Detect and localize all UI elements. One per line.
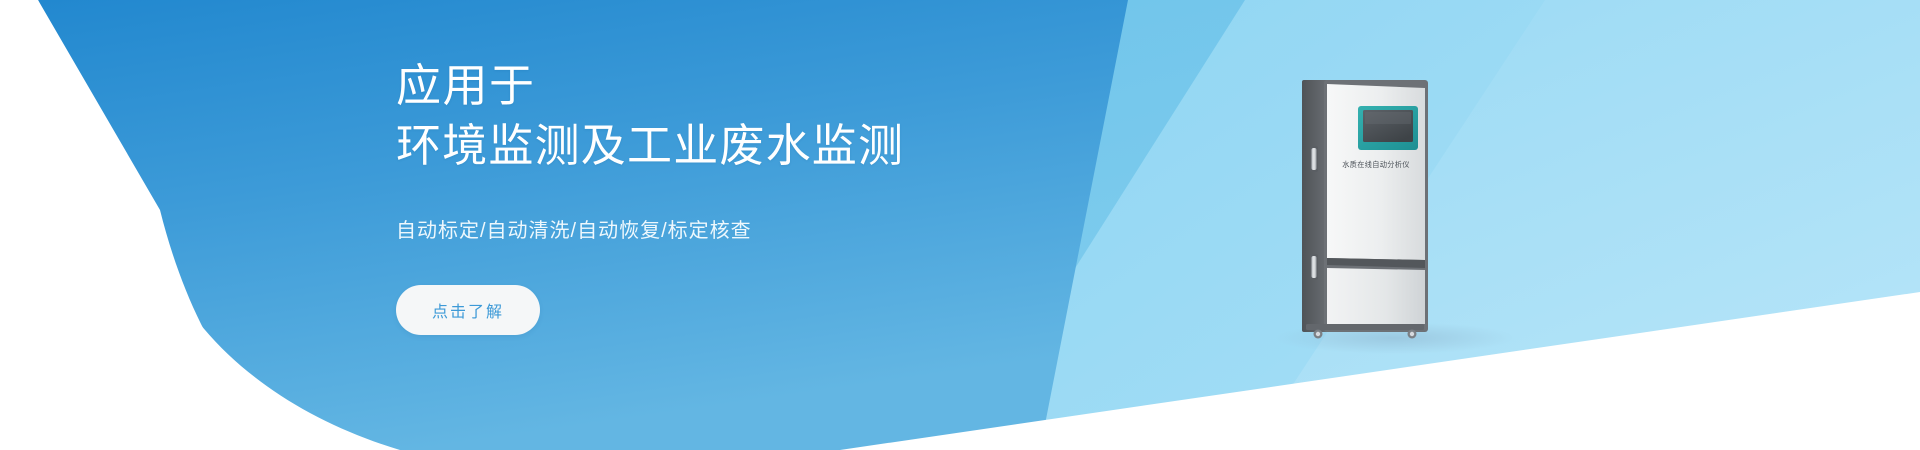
banner-subtitle: 自动标定/自动清洗/自动恢复/标定核查 — [396, 214, 1056, 243]
hero-banner: 应用于 环境监测及工业废水监测 自动标定/自动清洗/自动恢复/标定核查 点击了解 — [0, 0, 1920, 450]
product-image-water-analyzer: 水质在线自动分析仪 — [1300, 78, 1430, 340]
learn-more-button[interactable]: 点击了解 — [396, 285, 540, 335]
analyzer-cabinet-icon — [1300, 78, 1430, 340]
banner-copy: 应用于 环境监测及工业废水监测 自动标定/自动清洗/自动恢复/标定核查 点击了解 — [396, 56, 1056, 335]
headline-line-2: 环境监测及工业废水监测 — [396, 116, 1056, 176]
headline-line-1: 应用于 — [396, 56, 1056, 116]
